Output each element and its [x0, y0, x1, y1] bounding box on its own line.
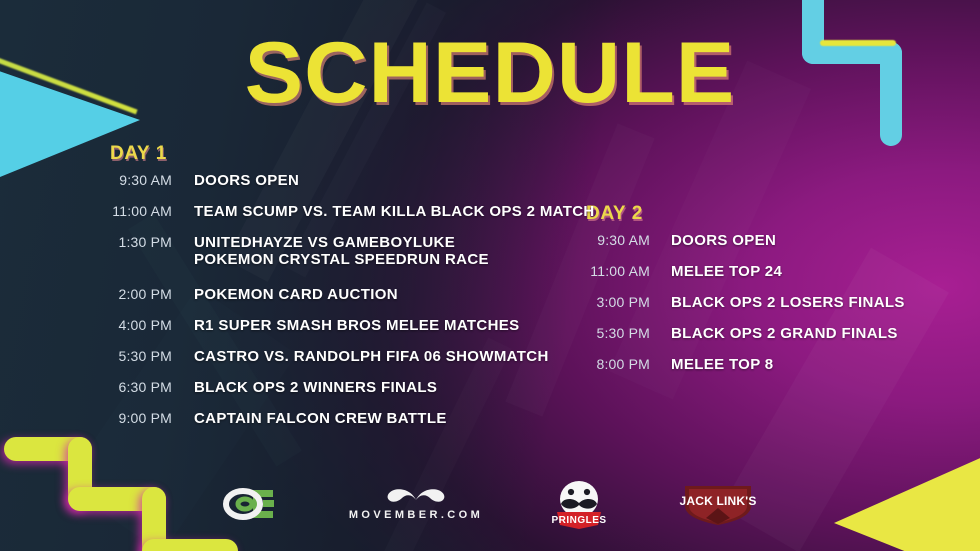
row-event: BLACK OPS 2 LOSERS FINALS	[671, 294, 905, 311]
schedule-row: 9:30 AM DOORS OPEN	[0, 232, 980, 263]
svg-text:JACK LINK'S: JACK LINK'S	[680, 494, 757, 508]
row-time: 11:00 AM	[548, 263, 650, 279]
zigzag-segment	[142, 539, 238, 551]
day-2-schedule-list: 9:30 AM DOORS OPEN 11:00 AM MELEE TOP 24…	[0, 232, 980, 387]
schedule-row: 9:00 PM CAPTAIN FALCON CREW BATTLE	[0, 410, 560, 441]
pringles-icon: PRINGLES	[551, 479, 607, 529]
row-event: BLACK OPS 2 GRAND FINALS	[671, 325, 898, 342]
jack-links-icon: JACK LINK'S	[675, 481, 761, 527]
sponsor-logo-row: MOVEMBER.COM PRINGLES JACK LINK'S	[0, 473, 980, 535]
row-time: 9:30 AM	[548, 232, 650, 248]
movember-logo: MOVEMBER.COM	[349, 487, 483, 521]
optic-gaming-logo	[219, 484, 281, 524]
row-event: MELEE TOP 8	[671, 356, 774, 373]
moustache-icon	[385, 487, 447, 505]
row-time: 9:00 PM	[72, 410, 172, 426]
svg-text:PRINGLES: PRINGLES	[552, 515, 607, 526]
schedule-graphic: SCHEDULE DAY 1 DAY 2 9:30 AM DOORS OPEN …	[0, 0, 980, 551]
schedule-row: 9:30 AM DOORS OPEN	[0, 172, 560, 203]
page-title: SCHEDULE	[0, 30, 980, 116]
row-event: CAPTAIN FALCON CREW BATTLE	[194, 410, 447, 427]
row-time: 5:30 PM	[548, 325, 650, 341]
row-event: TEAM SCUMP VS. TEAM KILLA BLACK OPS 2 MA…	[194, 203, 595, 220]
schedule-row: 11:00 AM TEAM SCUMP VS. TEAM KILLA BLACK…	[0, 203, 560, 234]
schedule-row: 3:00 PM BLACK OPS 2 LOSERS FINALS	[0, 294, 980, 325]
optic-gaming-icon	[219, 484, 281, 524]
row-event: DOORS OPEN	[671, 232, 776, 249]
row-event: DOORS OPEN	[194, 172, 299, 189]
schedule-row: 8:00 PM MELEE TOP 8	[0, 356, 980, 387]
row-time: 8:00 PM	[548, 356, 650, 372]
schedule-row: 11:00 AM MELEE TOP 24	[0, 263, 980, 294]
row-time: 11:00 AM	[72, 203, 172, 219]
movember-wordmark: MOVEMBER.COM	[349, 509, 483, 521]
row-event: MELEE TOP 24	[671, 263, 782, 280]
schedule-row: 5:30 PM BLACK OPS 2 GRAND FINALS	[0, 325, 980, 356]
jack-links-logo: JACK LINK'S	[675, 481, 761, 527]
pringles-logo: PRINGLES	[551, 479, 607, 529]
day-1-heading: DAY 1	[110, 143, 167, 165]
row-time: 9:30 AM	[72, 172, 172, 188]
row-time: 3:00 PM	[548, 294, 650, 310]
